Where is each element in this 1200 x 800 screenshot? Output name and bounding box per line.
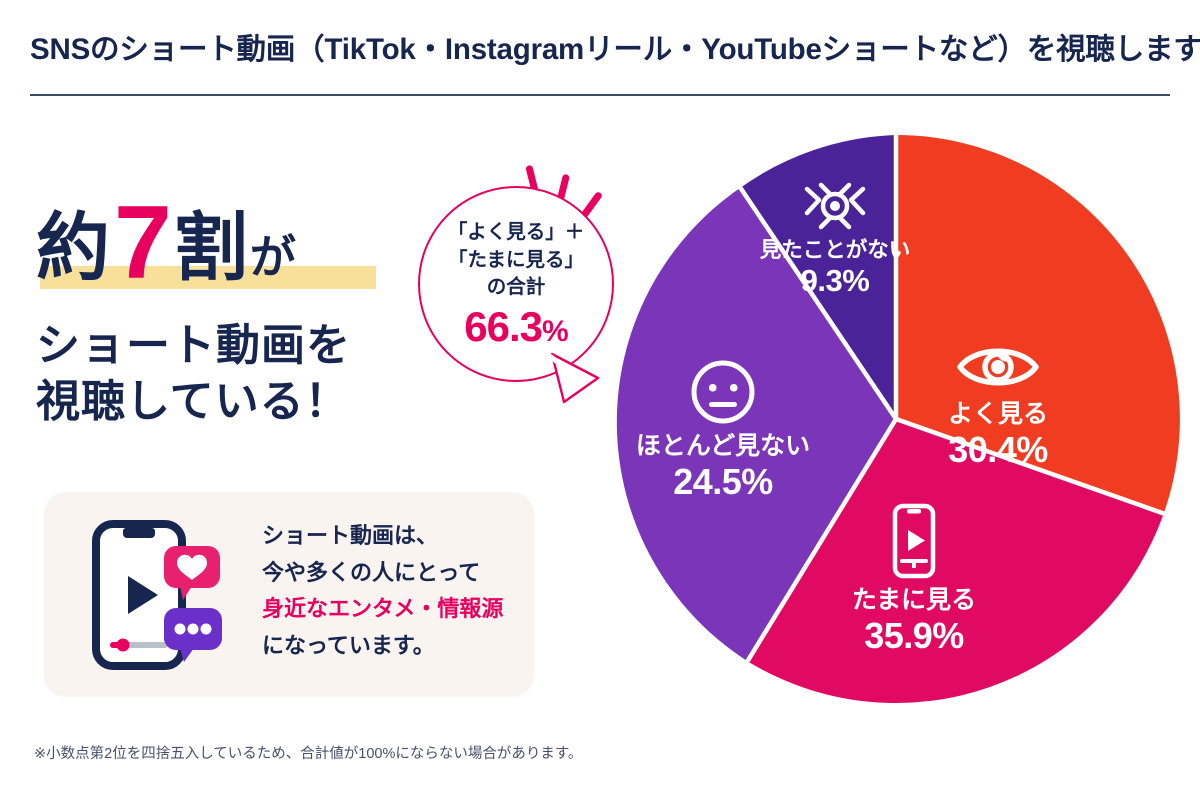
callout-total-percent-sign: % [542,315,568,348]
bubble-tail-icon [548,352,600,404]
dot-icon-1 [175,624,186,635]
callout-total-value: 66.3% [464,305,567,349]
pie-chart-svg [607,130,1185,708]
insight-line-1: ショート動画は、 [262,518,503,555]
phone-social-illustration [76,514,238,676]
header-divider [30,94,1170,96]
headline-block: 約 7 割 が ショート動画を 視聴している！ [36,196,426,431]
insight-line-3: 身近なエンタメ・情報源 [262,591,503,628]
callout-line-2: 「たまに見る」 [448,247,584,275]
callout-total-number: 66.3 [464,303,542,350]
insight-line-2: 今や多くの人にとって [262,555,503,592]
callout-line-3: の合計 [487,274,546,302]
dot-icon-3 [201,624,212,635]
headline-number: 7 [114,201,172,286]
header: SNSのショート動画（TikTok・Instagramリール・YouTubeショ… [30,26,1170,68]
headline-particle: が [250,234,296,280]
insight-line-4: になっています。 [262,628,503,665]
callout-line-1: 「よく見る」＋ [448,219,585,247]
insight-card: ショート動画は、 今や多くの人にとって 身近なエンタメ・情報源 になっています。 [44,492,534,697]
footnote: ※小数点第2位を四捨五入しているため、合計値が100%にならない場合があります。 [34,742,582,763]
headline-prefix: 約 [36,211,110,285]
page-title: SNSのショート動画（TikTok・Instagramリール・YouTubeショ… [30,26,1170,68]
pie-chart: よく見る 30.4% たまに見る 35.9% ほとんど見ない 24.5% [607,130,1185,708]
headline-line-2: ショート動画を [36,318,426,374]
dot-icon-2 [188,624,199,635]
headline-line-3: 視聴している！ [36,374,426,430]
phone-notch-icon [123,528,155,538]
headline-unit: 割 [174,211,248,285]
insight-card-text: ショート動画は、 今や多くの人にとって 身近なエンタメ・情報源 になっています。 [262,518,503,664]
progress-knob [117,639,130,652]
headline-row-primary: 約 7 割 が [36,196,426,304]
